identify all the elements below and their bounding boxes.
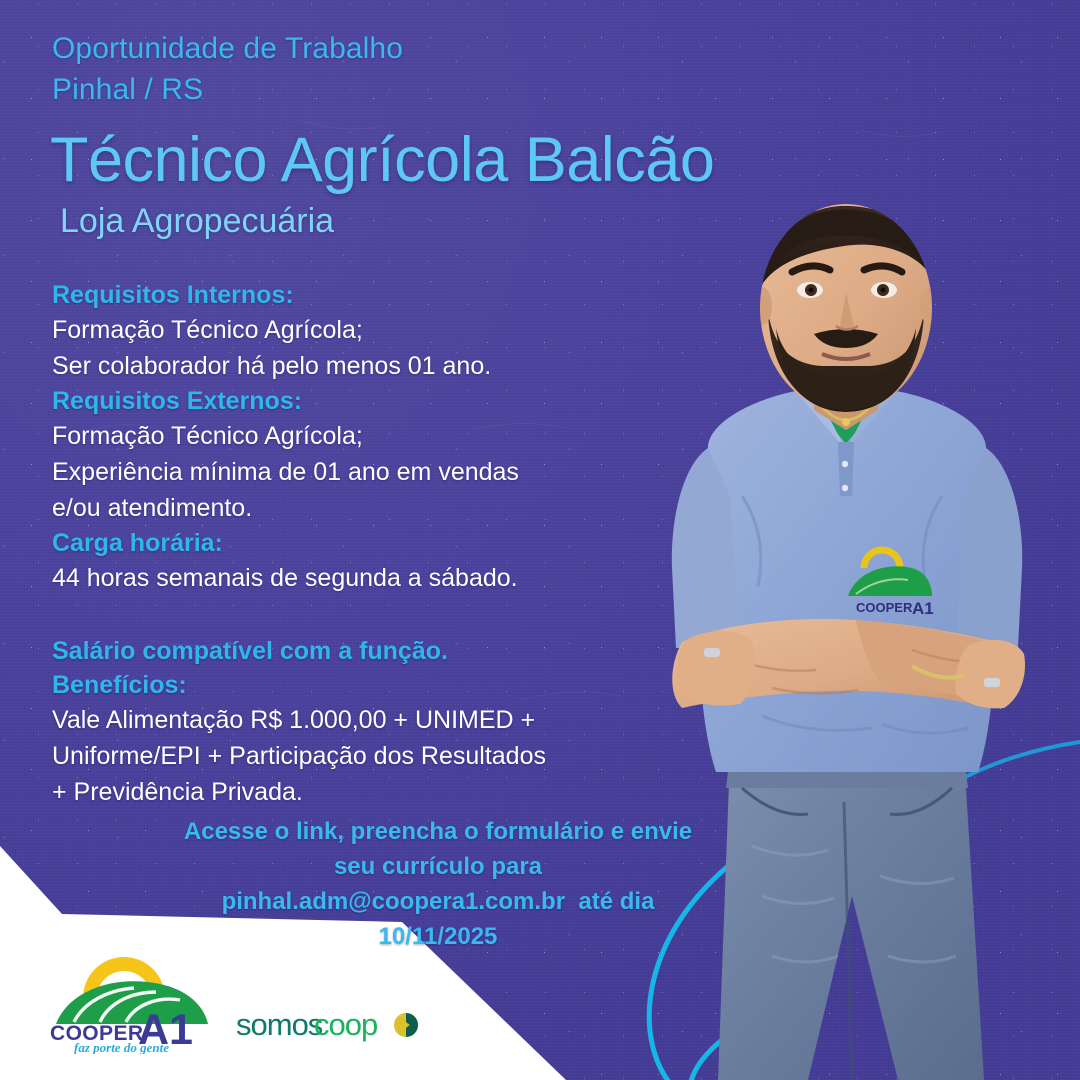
somoscoop-logo: somos coop: [236, 1003, 432, 1047]
page-subtitle: Loja Agropecuária: [60, 203, 334, 240]
section-line: Ser colaborador há pelo menos 01 ano.: [52, 348, 491, 384]
section-label: Requisitos Externos:: [52, 384, 519, 418]
application-instructions: Acesse o link, preencha o formulário e e…: [118, 814, 758, 954]
page-title: Técnico Agrícola Balcão: [50, 128, 714, 194]
section-line: 44 horas semanais de segunda a sábado.: [52, 560, 518, 596]
benefits-label: Benefícios:: [52, 668, 546, 702]
benefit-line: Uniforme/EPI + Participação dos Resultad…: [52, 738, 546, 774]
kicker-line-1: Oportunidade de Trabalho: [52, 32, 403, 65]
application-email[interactable]: pinhal.adm@coopera1.com.br: [222, 888, 565, 915]
section-line: Formação Técnico Agrícola;: [52, 418, 519, 454]
kicker: Oportunidade de TrabalhoPinhal / RS: [52, 28, 403, 111]
cta-line-1: Acesse o link, preencha o formulário e e…: [118, 814, 758, 849]
section-carga-horaria: Carga horária: 44 horas semanais de segu…: [52, 526, 518, 596]
section-requisitos-externos: Requisitos Externos: Formação Técnico Ag…: [52, 384, 519, 526]
cta-line-2: seu currículo para: [118, 849, 758, 884]
section-line: e/ou atendimento.: [52, 490, 519, 526]
salary-label: Salário compatível com a função.: [52, 634, 546, 668]
somoscoop-dot-icon: [394, 1013, 418, 1037]
somoscoop-word-coop: coop: [314, 1007, 377, 1042]
section-requisitos-internos: Requisitos Internos: Formação Técnico Ag…: [52, 278, 491, 384]
benefit-line: Vale Alimentação R$ 1.000,00 + UNIMED +: [52, 702, 546, 738]
section-line: Formação Técnico Agrícola;: [52, 312, 491, 348]
section-salario-beneficios: Salário compatível com a função. Benefíc…: [52, 634, 546, 810]
cta-email-line: pinhal.adm@coopera1.com.br até dia: [118, 884, 758, 919]
logo-tagline: faz porte do gente: [74, 1040, 169, 1054]
job-posting-poster: COOPER A1 Oportunidade de TrabalhoPinhal…: [0, 0, 1080, 1080]
somoscoop-word-somos: somos: [236, 1007, 323, 1042]
section-label: Carga horária:: [52, 526, 518, 560]
section-label: Requisitos Internos:: [52, 278, 491, 312]
section-line: Experiência mínima de 01 ano em vendas: [52, 454, 519, 490]
cooper-a1-logo: COOPER A1 faz porte do gente: [38, 948, 224, 1054]
benefit-line: + Previdência Privada.: [52, 774, 546, 810]
deadline-prefix: até dia: [578, 888, 654, 915]
kicker-line-2: Pinhal / RS: [52, 73, 203, 106]
